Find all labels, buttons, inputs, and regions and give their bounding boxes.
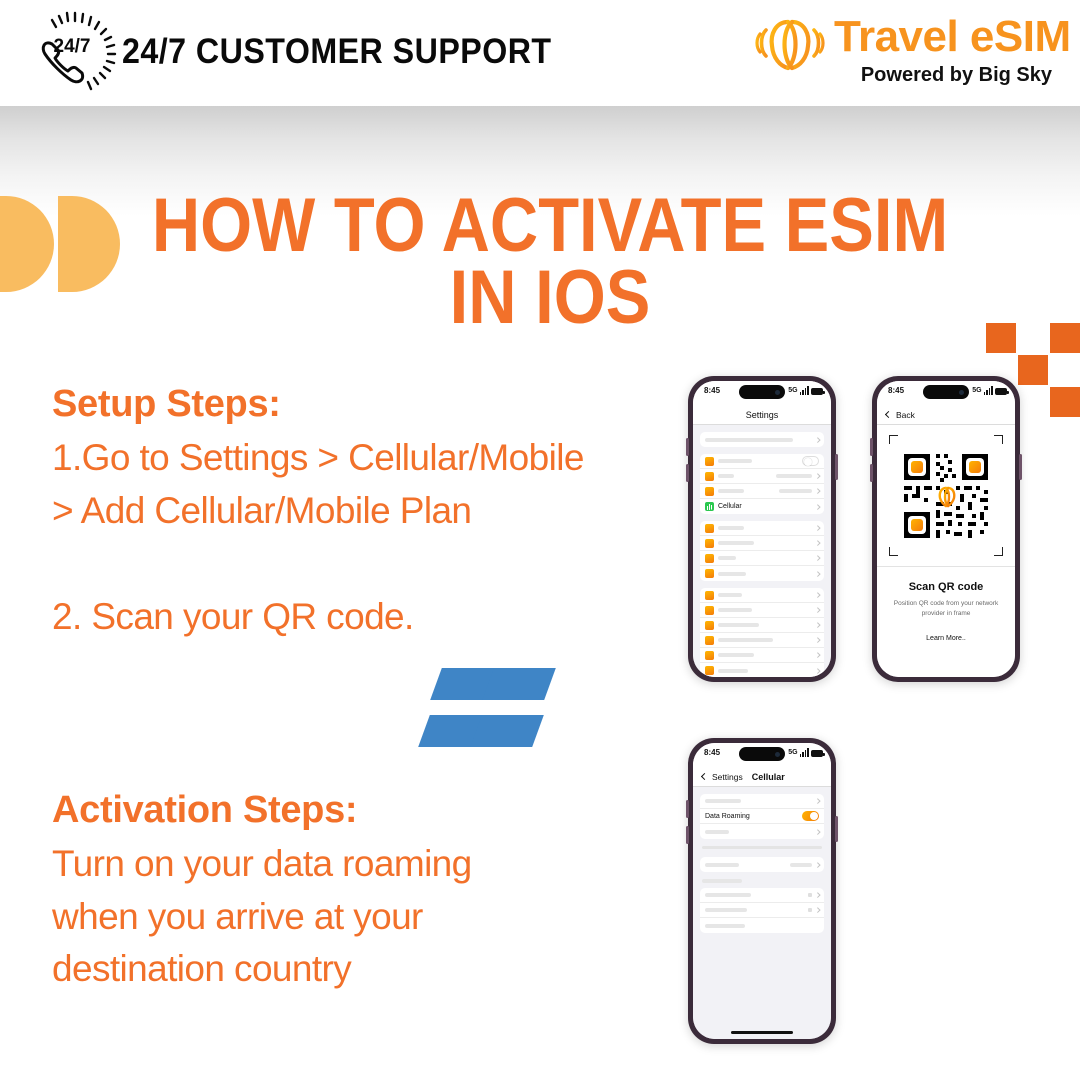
status-time: 8:45 — [704, 386, 720, 395]
phone-button-volume-down[interactable] — [870, 464, 873, 482]
placeholder-bar — [705, 924, 745, 928]
settings-icon — [705, 636, 714, 645]
placeholder-bar — [705, 908, 747, 912]
settings-group-profile[interactable] — [700, 432, 824, 447]
placeholder-bar — [718, 474, 734, 478]
toggle-switch[interactable] — [802, 456, 819, 466]
status-network: 5G — [788, 386, 797, 395]
chevron-left-icon — [885, 411, 892, 418]
status-bar: 8:45 5G — [877, 381, 1015, 405]
chevron-right-icon — [815, 541, 820, 546]
placeholder-bar — [705, 830, 729, 834]
status-square-icon — [808, 893, 812, 897]
viewfinder-corner — [889, 547, 898, 556]
viewfinder-corner — [889, 435, 898, 444]
svg-text:24/7: 24/7 — [54, 36, 91, 57]
status-time: 8:45 — [888, 386, 904, 395]
list-item[interactable] — [700, 633, 824, 648]
dynamic-island — [923, 385, 969, 399]
chevron-right-icon — [815, 474, 820, 479]
page-header: 24/7 24/7 CUSTOMER SUPPORT — [0, 0, 1080, 106]
chevron-right-icon — [815, 571, 820, 576]
list-item[interactable] — [700, 918, 824, 933]
list-item[interactable] — [700, 648, 824, 663]
section-label-placeholder — [702, 879, 742, 883]
data-roaming-label: Data Roaming — [705, 813, 750, 820]
chevron-right-icon — [815, 829, 820, 834]
learn-more-link[interactable]: Learn More.. — [887, 635, 1005, 642]
placeholder-bar — [718, 623, 759, 627]
chevron-right-icon — [815, 908, 820, 913]
home-indicator[interactable] — [731, 1031, 793, 1034]
placeholder-bar — [718, 541, 754, 545]
list-item[interactable] — [700, 857, 824, 872]
placeholder-value — [776, 474, 812, 478]
settings-icon — [705, 606, 714, 615]
list-item[interactable] — [700, 469, 824, 484]
phone-button-volume-down[interactable] — [686, 464, 689, 482]
cellular-group-apps[interactable] — [700, 888, 824, 933]
cellular-icon — [705, 502, 714, 511]
settings-list[interactable]: Cellular — [693, 425, 831, 677]
list-item[interactable] — [700, 663, 824, 677]
brand-tagline: Powered by Big Sky — [861, 64, 1052, 87]
dynamic-island — [739, 747, 785, 761]
chevron-right-icon — [815, 638, 820, 643]
cellular-group-plan[interactable] — [700, 857, 824, 872]
status-time: 8:45 — [704, 748, 720, 757]
setup-step-2: 2. Scan your QR code. — [52, 591, 672, 644]
list-item[interactable] — [700, 521, 824, 536]
status-network: 5G — [972, 386, 981, 395]
settings-item-data-roaming[interactable]: Data Roaming — [700, 809, 824, 824]
placeholder-bar — [705, 893, 751, 897]
chevron-right-icon — [815, 653, 820, 658]
phone-button-power[interactable] — [1019, 454, 1022, 480]
setup-steps-block: Setup Steps: 1.Go to Settings > Cellular… — [52, 383, 672, 644]
list-item[interactable] — [700, 551, 824, 566]
activation-line-3: destination country — [52, 943, 672, 996]
phone-mockup-settings: 8:45 5G Settings — [688, 376, 836, 682]
chevron-right-icon — [815, 799, 820, 804]
settings-icon — [705, 554, 714, 563]
status-bar: 8:45 5G — [693, 743, 831, 767]
chevron-right-icon — [815, 556, 820, 561]
checker-square — [1050, 323, 1080, 353]
placeholder-bar — [705, 863, 739, 867]
section-divider — [702, 846, 822, 849]
settings-group-apps[interactable] — [700, 588, 824, 677]
qr-scan-viewfinder — [877, 425, 1015, 567]
battery-icon — [811, 750, 823, 757]
settings-icon — [705, 524, 714, 533]
placeholder-bar — [718, 459, 752, 463]
signal-bars-icon — [800, 386, 809, 395]
back-button-label[interactable]: Settings — [712, 772, 743, 782]
viewfinder-corner — [994, 547, 1003, 556]
chevron-left-icon — [701, 773, 708, 780]
list-item[interactable] — [700, 618, 824, 633]
phone-button-volume-up[interactable] — [686, 438, 689, 456]
qr-instructions: Scan QR code Position QR code from your … — [877, 567, 1015, 677]
settings-icon — [705, 472, 714, 481]
chevron-right-icon — [815, 526, 820, 531]
settings-icon — [705, 591, 714, 600]
checker-square — [986, 323, 1016, 353]
settings-group-system[interactable] — [700, 521, 824, 581]
viewfinder-corner — [994, 435, 1003, 444]
battery-icon — [995, 388, 1007, 395]
placeholder-bar — [718, 526, 744, 530]
nav-title-settings: Settings — [693, 405, 831, 425]
qr-code-image — [900, 450, 992, 542]
settings-icon — [705, 569, 714, 578]
placeholder-bar — [718, 669, 748, 673]
chevron-right-icon — [815, 608, 820, 613]
settings-icon — [705, 621, 714, 630]
setup-step-1-cont: > Add Cellular/Mobile Plan — [52, 485, 672, 538]
list-item[interactable] — [700, 888, 824, 903]
phone-button-power[interactable] — [835, 454, 838, 480]
settings-icon — [705, 539, 714, 548]
placeholder-bar — [718, 638, 773, 642]
placeholder-value — [779, 489, 812, 493]
list-item[interactable] — [700, 432, 824, 447]
placeholder-value — [790, 863, 812, 867]
parallelogram-shape — [482, 668, 556, 700]
signal-bars-icon — [984, 386, 993, 395]
nav-bar-back[interactable]: Back — [877, 405, 1015, 425]
butterfly-signal-logo-icon — [752, 16, 830, 72]
list-item[interactable] — [700, 903, 824, 918]
chevron-right-icon — [815, 862, 820, 867]
settings-icon — [705, 487, 714, 496]
qr-description: Position QR code from your network provi… — [887, 599, 1005, 619]
chevron-right-icon — [815, 437, 820, 442]
activation-steps-block: Activation Steps: Turn on your data roam… — [52, 789, 672, 996]
phone-button-power[interactable] — [835, 816, 838, 842]
back-button-label: Back — [896, 410, 915, 420]
chevron-right-icon — [815, 489, 820, 494]
placeholder-bar — [705, 799, 741, 803]
chevron-right-icon — [815, 893, 820, 898]
placeholder-bar — [718, 608, 752, 612]
phone-button-volume-down[interactable] — [686, 826, 689, 844]
blue-parallelogram-decoration — [430, 668, 550, 768]
list-item[interactable] — [700, 794, 824, 809]
cellular-group-main[interactable]: Data Roaming — [700, 794, 824, 839]
status-network: 5G — [788, 748, 797, 757]
phone-mockup-cellular: 8:45 5G Settings Cellular Data Roaming — [688, 738, 836, 1044]
placeholder-bar — [718, 653, 754, 657]
activation-line-2: when you arrive at your — [52, 891, 672, 944]
list-item[interactable] — [700, 588, 824, 603]
list-item[interactable] — [700, 454, 824, 469]
list-item[interactable] — [700, 484, 824, 499]
support-title: 24/7 CUSTOMER SUPPORT — [122, 32, 552, 72]
list-item[interactable] — [700, 824, 824, 839]
settings-group-connectivity[interactable]: Cellular — [700, 454, 824, 514]
settings-icon — [705, 651, 714, 660]
cellular-settings-list[interactable]: Data Roaming — [693, 787, 831, 1039]
list-item[interactable] — [700, 536, 824, 551]
brand-name: Travel eSIM — [834, 12, 1071, 62]
phone-24-7-icon: 24/7 — [22, 8, 118, 100]
chevron-right-icon — [815, 593, 820, 598]
phone-mockup-qr-scan: 8:45 5G Back — [872, 376, 1020, 682]
placeholder-bar — [718, 489, 744, 493]
setup-steps-heading: Setup Steps: — [52, 383, 672, 426]
nav-title-cellular: Cellular — [752, 772, 785, 782]
settings-icon — [705, 666, 714, 675]
dynamic-island — [739, 385, 785, 399]
activation-steps-heading: Activation Steps: — [52, 789, 672, 832]
chevron-right-icon — [815, 668, 820, 673]
placeholder-bar — [705, 438, 793, 442]
placeholder-bar — [718, 556, 736, 560]
placeholder-bar — [718, 593, 742, 597]
settings-item-label: Cellular — [718, 503, 742, 510]
data-roaming-toggle[interactable] — [802, 811, 819, 821]
setup-spacer — [52, 537, 672, 591]
list-item[interactable] — [700, 603, 824, 618]
page-title: HOW TO ACTIVATE ESIM IN IOS — [145, 190, 955, 334]
status-square-icon — [808, 908, 812, 912]
parallelogram-shape — [470, 715, 544, 747]
brand-logo: Travel eSIM Powered by Big Sky — [752, 14, 1052, 94]
activation-line-1: Turn on your data roaming — [52, 838, 672, 891]
nav-bar-cellular[interactable]: Settings Cellular — [693, 767, 831, 787]
checker-square — [1018, 355, 1048, 385]
setup-step-1: 1.Go to Settings > Cellular/Mobile — [52, 432, 672, 485]
chevron-right-icon — [815, 504, 820, 509]
settings-item-cellular[interactable]: Cellular — [700, 499, 824, 514]
checker-square — [1050, 387, 1080, 417]
signal-bars-icon — [800, 748, 809, 757]
battery-icon — [811, 388, 823, 395]
settings-icon — [705, 457, 714, 466]
qr-heading: Scan QR code — [887, 581, 1005, 593]
phone-button-volume-up[interactable] — [870, 438, 873, 456]
placeholder-bar — [718, 572, 746, 576]
phone-button-volume-up[interactable] — [686, 800, 689, 818]
chevron-right-icon — [815, 623, 820, 628]
list-item[interactable] — [700, 566, 824, 581]
status-bar: 8:45 5G — [693, 381, 831, 405]
